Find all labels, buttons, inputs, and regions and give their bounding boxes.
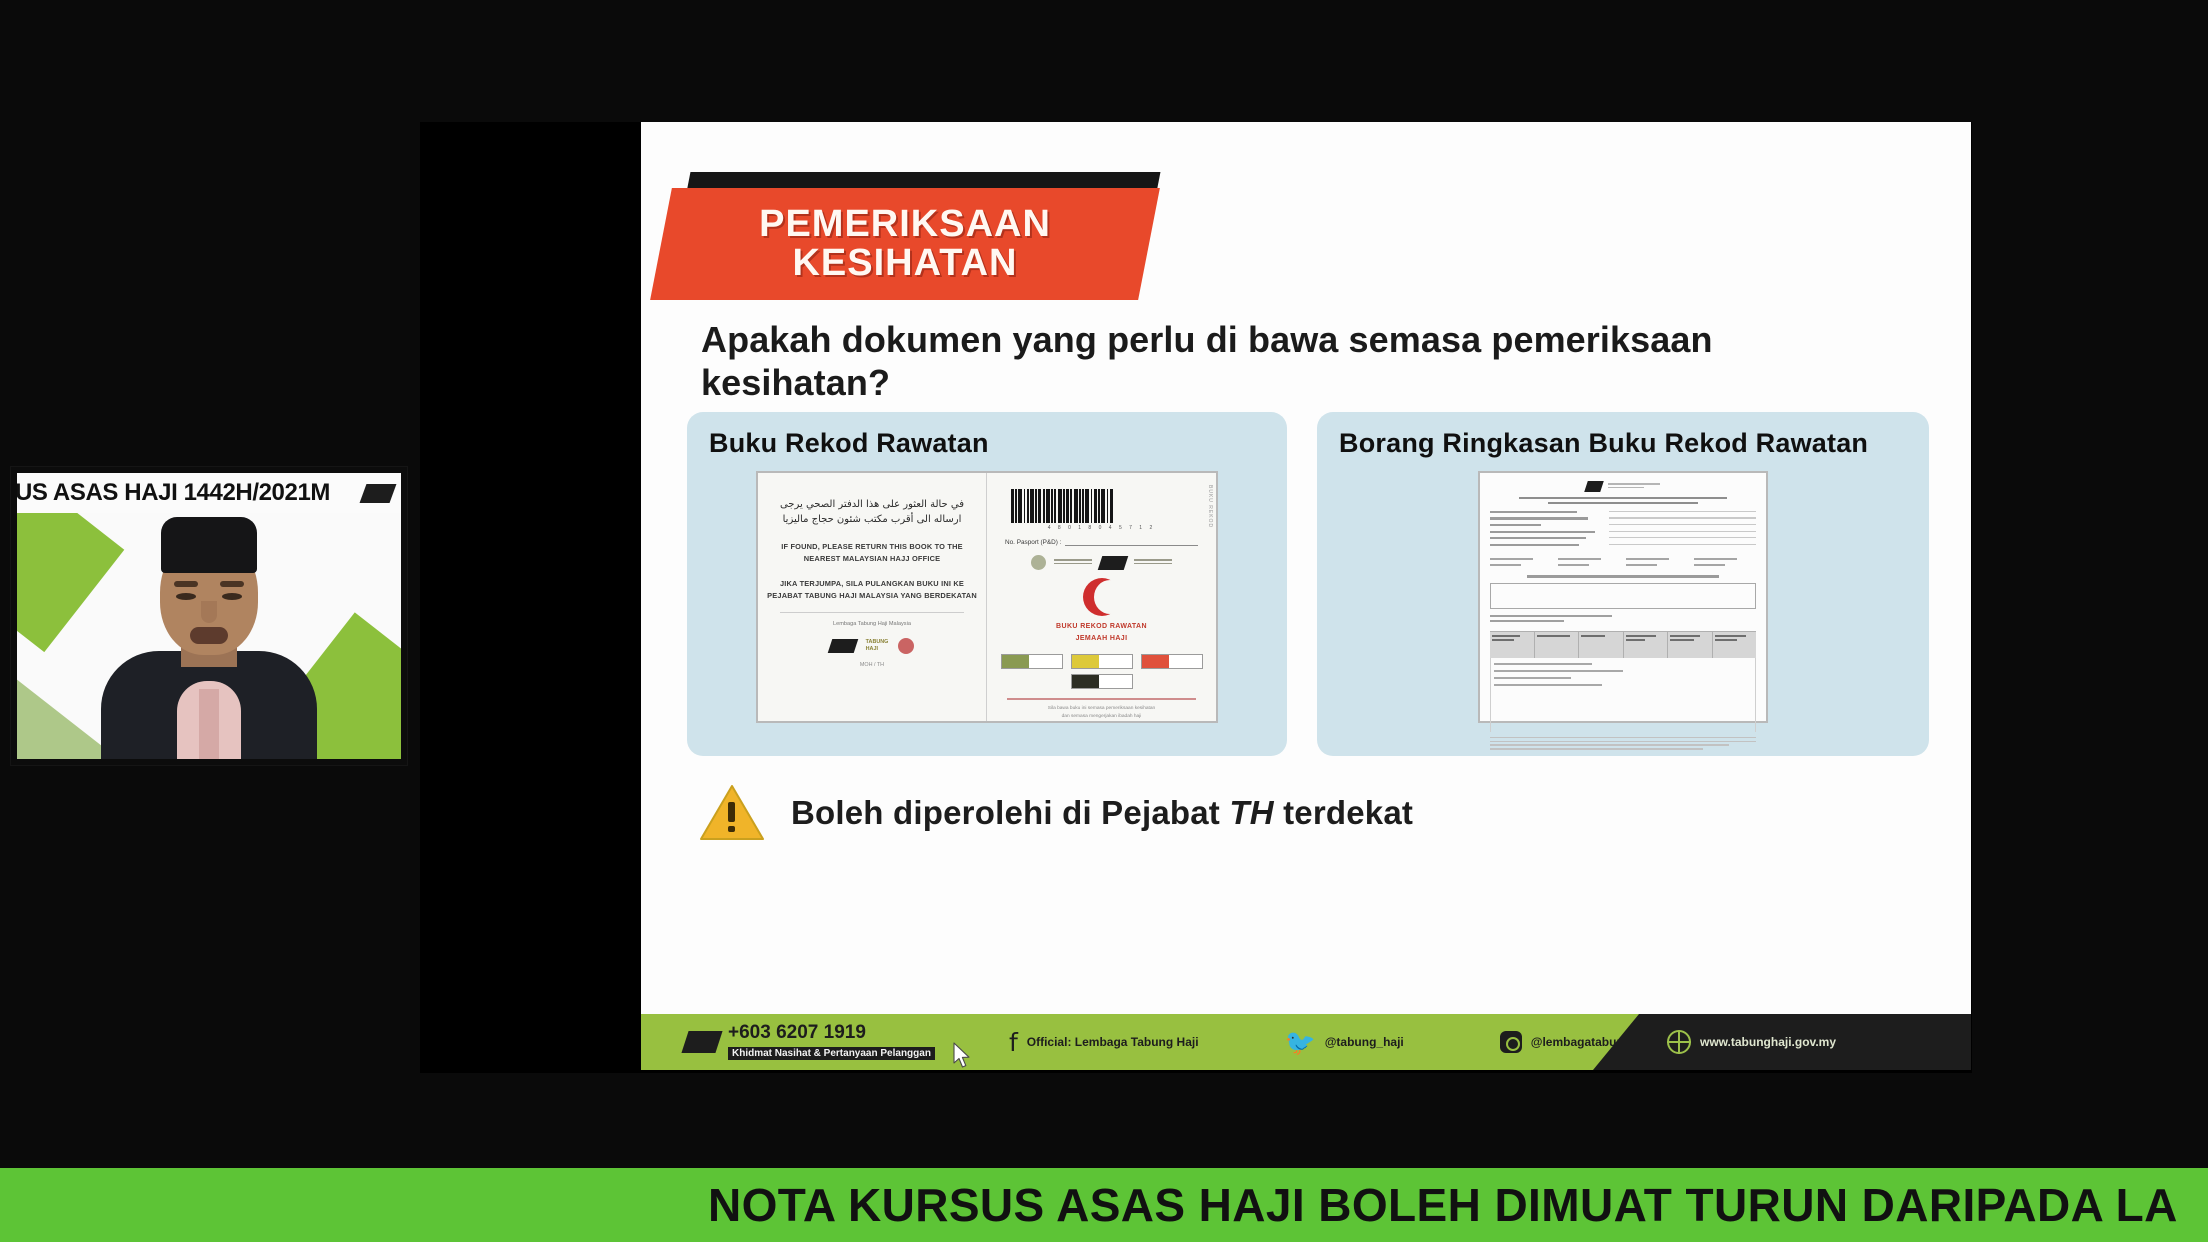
crest-icon: [898, 638, 914, 654]
mouse-cursor: [952, 1042, 972, 1070]
cover-title-line1: BUKU REKOD RAWATAN: [1056, 623, 1147, 630]
card-body: في حالة العثور على هذا الدفتر الصحي يرجى…: [709, 471, 1265, 738]
barcode-number: 4 8 0 1 8 0 4 5 7 1 2: [995, 525, 1208, 531]
eye: [176, 593, 196, 600]
card-borang-ringkasan: Borang Ringkasan Buku Rekod Rawatan: [1317, 412, 1929, 756]
book-record-image: في حالة العثور على هذا الدفتر الصحي يرجى…: [756, 471, 1218, 723]
form-field-list: [1490, 511, 1756, 551]
webcam-video: US ASAS HAJI 1442H/2021M: [17, 473, 401, 759]
table-header-cell: [1535, 632, 1580, 658]
footer-phone-caption: Khidmat Nasihat & Pertanyaan Pelanggan: [728, 1047, 935, 1060]
webcam-background: [17, 513, 401, 759]
th-wordmark: [1134, 559, 1172, 566]
passport-rule: [1065, 539, 1198, 546]
footer-facebook[interactable]: f Official: Lembaga Tabung Haji: [1009, 1030, 1199, 1055]
form-header: [1490, 481, 1756, 492]
card-title: Buku Rekod Rawatan: [709, 428, 1265, 459]
form-subtitle: [1527, 575, 1719, 577]
form-value-rules: [1609, 511, 1756, 551]
document-cards: Buku Rekod Rawatan في حالة العثور على هذ…: [687, 412, 1929, 756]
speaker-figure: [94, 554, 324, 759]
tabung-haji-logo-icon: [1584, 481, 1604, 492]
table-header-cell: [1490, 632, 1535, 658]
form-table-header: [1490, 631, 1756, 658]
songkok-hat: [161, 517, 257, 573]
banner-text: PEMERIKSAAN KESIHATAN: [661, 188, 1149, 300]
form-text-box: [1490, 583, 1756, 609]
note-text: Boleh diperolehi di Pejabat TH terdekat: [791, 794, 1413, 832]
logo-wordmark: TABUNGHAJI: [866, 639, 889, 652]
arabic-note: في حالة العثور على هذا الدفتر الصحي يرجى…: [766, 497, 978, 527]
form-check: [1558, 558, 1620, 569]
swatch: [1071, 654, 1133, 669]
book-page-left: في حالة العثور على هذا الدفتر الصحي يرجى…: [758, 473, 987, 721]
footer-twitter[interactable]: 🐦 @tabung_haji: [1285, 1030, 1404, 1055]
passport-field: No. Pasport (P&D) :: [1005, 539, 1198, 546]
note-text-italic: TH: [1229, 794, 1273, 831]
ticker-text: NOTA KURSUS ASAS HAJI BOLEH DIMUAT TURUN…: [708, 1178, 2178, 1232]
table-header-cell: [1579, 632, 1624, 658]
form-check: [1694, 558, 1756, 569]
tabung-haji-logo-icon: [360, 484, 397, 503]
footer-facebook-handle: Official: Lembaga Tabung Haji: [1027, 1035, 1199, 1049]
presentation-slide: PEMERIKSAAN KESIHATAN Apakah dokumen yan…: [641, 122, 1971, 1070]
eyebrow: [220, 581, 244, 587]
slide-footer: +603 6207 1919 Khidmat Nasihat & Pertany…: [641, 1014, 1971, 1070]
form-note: [1490, 615, 1756, 622]
form-checkbox-row: [1490, 558, 1756, 569]
webcam-title: US ASAS HAJI 1442H/2021M: [17, 479, 330, 507]
english-note: IF FOUND, PLEASE RETURN THIS BOOK TO THE…: [766, 541, 978, 565]
speaker-shirt: [177, 681, 241, 759]
divider: [1007, 698, 1196, 700]
government-crest-icon: [1031, 555, 1046, 570]
table-header-cell: [1713, 632, 1757, 658]
book-footer-note: MOH / TH: [766, 662, 978, 668]
instagram-icon: [1500, 1031, 1522, 1053]
barcode-icon: [1011, 489, 1192, 523]
footer-website-block[interactable]: www.tabunghaji.gov.my: [1593, 1014, 1971, 1070]
form-fine-print: [1490, 737, 1756, 750]
form-table-body: [1490, 658, 1756, 732]
cover-title-line2: JEMAAH HAJI: [1076, 635, 1128, 642]
mouth: [190, 627, 228, 644]
webcam-title-bar: US ASAS HAJI 1442H/2021M: [17, 473, 401, 513]
spine-text: BUKU REKOD: [1207, 485, 1213, 528]
note-text-before: Boleh diperolehi di Pejabat: [791, 794, 1229, 831]
form-check: [1490, 558, 1552, 569]
issuer-logos: TABUNGHAJI: [766, 638, 978, 654]
swatch: [1001, 654, 1063, 669]
card-title: Borang Ringkasan Buku Rekod Rawatan: [1339, 428, 1907, 459]
form-labels: [1490, 511, 1602, 551]
footer-twitter-handle: @tabung_haji: [1325, 1035, 1404, 1049]
webcam-thumbnail[interactable]: US ASAS HAJI 1442H/2021M: [10, 466, 408, 766]
slide-note: Boleh diperolehi di Pejabat TH terdekat: [699, 784, 1413, 842]
footer-website-url: www.tabunghaji.gov.my: [1700, 1035, 1836, 1049]
slide-title-banner: PEMERIKSAAN KESIHATAN: [661, 172, 1181, 307]
card-buku-rekod-rawatan: Buku Rekod Rawatan في حالة العثور على هذ…: [687, 412, 1287, 756]
cover-title: BUKU REKOD RAWATAN JEMAAH HAJI: [995, 621, 1208, 645]
malay-note: JIKA TERJUMPA, SILA PULANGKAN BUKU INI K…: [766, 578, 978, 602]
note-text-after: terdekat: [1274, 794, 1413, 831]
phone-logo-icon: [681, 1031, 722, 1053]
bottom-ticker: NOTA KURSUS ASAS HAJI BOLEH DIMUAT TURUN…: [0, 1168, 2208, 1242]
tabung-haji-logo-icon: [827, 639, 858, 653]
swatch: [1071, 674, 1133, 689]
seal-row: [995, 555, 1208, 570]
facebook-icon: f: [1009, 1030, 1018, 1055]
form-title-lines: [1519, 497, 1726, 504]
screen-root: PEMERIKSAAN KESIHATAN Apakah dokumen yan…: [0, 0, 2208, 1242]
tabung-haji-logo-icon: [1098, 556, 1129, 570]
globe-icon: [1667, 1030, 1691, 1054]
banner-line-2: KESIHATAN: [792, 244, 1017, 283]
form-check: [1626, 558, 1688, 569]
summary-form-image: [1478, 471, 1768, 723]
banner-line-1: PEMERIKSAAN: [759, 205, 1051, 244]
red-crescent-icon: [1083, 578, 1121, 616]
fine-print: Sila bawa buku ini semasa pemeriksaan ke…: [995, 705, 1208, 722]
divider: [780, 612, 964, 613]
form-org-wordmark: [1608, 483, 1660, 490]
issuer-note: Lembaga Tabung Haji Malaysia: [766, 620, 978, 630]
footer-phone: +603 6207 1919 Khidmat Nasihat & Pertany…: [685, 1023, 935, 1061]
passport-label: No. Pasport (P&D) :: [1005, 539, 1061, 546]
swatch: [1141, 654, 1203, 669]
nose: [201, 601, 217, 623]
eye: [222, 593, 242, 600]
book-page-right: 4 8 0 1 8 0 4 5 7 1 2 No. Pasport (P&D) …: [987, 473, 1216, 721]
card-body: [1339, 471, 1907, 738]
footer-phone-number: +603 6207 1919: [728, 1023, 935, 1043]
table-header-cell: [1668, 632, 1713, 658]
color-swatches: [995, 654, 1208, 689]
slide-question: Apakah dokumen yang perlu di bawa semasa…: [701, 318, 1891, 404]
eyebrow: [174, 581, 198, 587]
ministry-wordmark: [1054, 559, 1092, 566]
table-header-cell: [1624, 632, 1669, 658]
twitter-icon: 🐦: [1285, 1030, 1316, 1055]
warning-triangle-icon: [699, 784, 765, 842]
